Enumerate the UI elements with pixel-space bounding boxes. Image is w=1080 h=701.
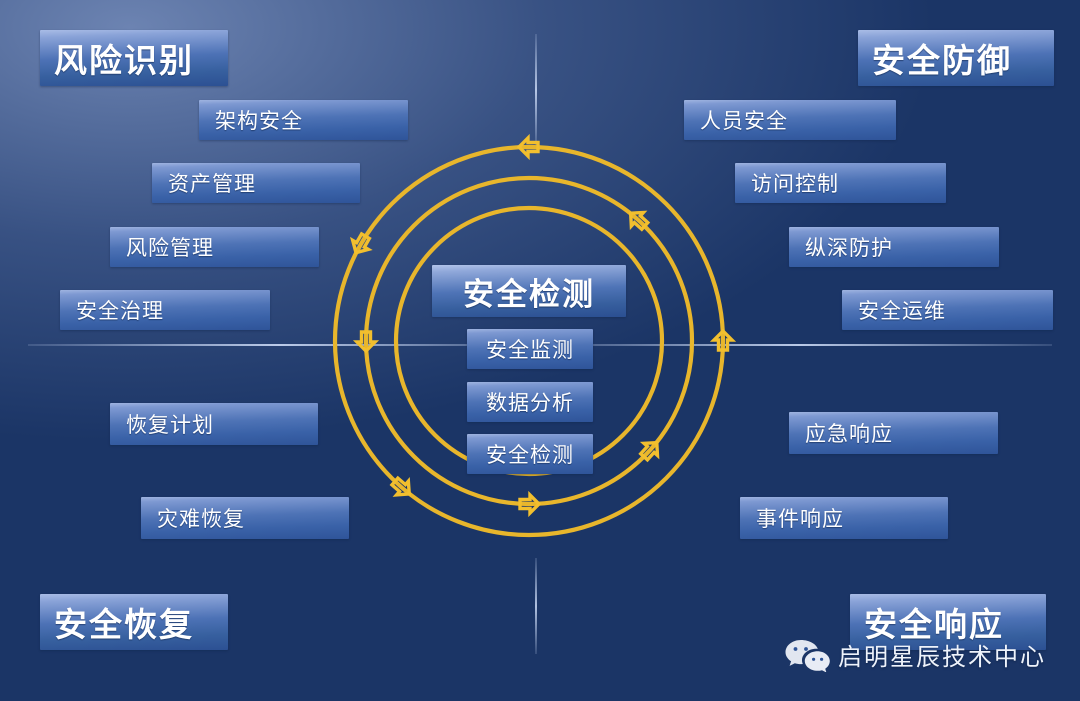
- item-defense-0[interactable]: 人员安全: [684, 100, 896, 140]
- item-response-0[interactable]: 应急响应: [789, 412, 998, 454]
- item-recovery-0[interactable]: 恢复计划: [110, 403, 318, 445]
- item-recovery-1[interactable]: 灾难恢复: [141, 497, 349, 539]
- cycle-arrow-5: [637, 437, 663, 463]
- center-item-2[interactable]: 安全检测: [467, 434, 593, 474]
- item-risk-0[interactable]: 架构安全: [199, 100, 408, 140]
- item-risk-2[interactable]: 风险管理: [110, 227, 319, 267]
- center-item-0[interactable]: 安全监测: [467, 329, 593, 369]
- cycle-arrow-7: [520, 495, 539, 513]
- cycle-arrow-0: [519, 138, 538, 156]
- quadrant-title-security-defense[interactable]: 安全防御: [858, 30, 1054, 86]
- cycle-arrow-1: [625, 207, 651, 233]
- wechat-icon: [785, 638, 831, 672]
- divider-vertical-bottom: [535, 558, 537, 654]
- cycle-arrow-3: [357, 332, 375, 351]
- quadrant-title-risk-identification[interactable]: 风险识别: [40, 30, 228, 86]
- cycle-arrow-2: [348, 232, 373, 257]
- divider-horizontal-left: [28, 344, 530, 346]
- divider-horizontal-right: [546, 344, 1052, 346]
- quadrant-title-security-recovery[interactable]: 安全恢复: [40, 594, 228, 650]
- cycle-arrow-6: [389, 475, 415, 501]
- item-defense-1[interactable]: 访问控制: [735, 163, 946, 203]
- item-risk-3[interactable]: 安全治理: [60, 290, 270, 330]
- item-defense-3[interactable]: 安全运维: [842, 290, 1053, 330]
- diagram-canvas: 风险识别 架构安全 资产管理 风险管理 安全治理 安全防御 人员安全 访问控制 …: [0, 0, 1080, 701]
- cycle-arrow-4: [714, 331, 732, 350]
- item-risk-1[interactable]: 资产管理: [152, 163, 360, 203]
- divider-vertical-top: [535, 34, 537, 146]
- item-defense-2[interactable]: 纵深防护: [789, 227, 999, 267]
- quadrant-title-security-response[interactable]: 安全响应: [850, 594, 1046, 650]
- center-heading[interactable]: 安全检测: [432, 265, 626, 317]
- center-item-1[interactable]: 数据分析: [467, 382, 593, 422]
- item-response-1[interactable]: 事件响应: [740, 497, 948, 539]
